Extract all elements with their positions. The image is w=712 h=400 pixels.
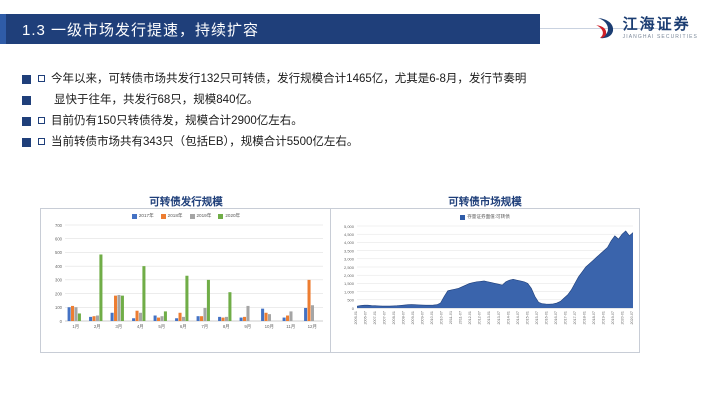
svg-text:2009-07: 2009-07 [421, 311, 425, 325]
svg-text:0: 0 [60, 319, 63, 324]
bullet-item-1-cont: 显快于往年，共发行68只，规模840亿。 [22, 91, 690, 110]
right-chart-title: 可转债市场规模 [330, 194, 640, 209]
svg-text:2013-07: 2013-07 [497, 311, 501, 325]
svg-text:2010-07: 2010-07 [440, 311, 444, 325]
left-chart-title-wrap: 可转债发行规模 [40, 194, 332, 209]
legend-item: 2017年 [132, 213, 154, 219]
svg-text:2006-01: 2006-01 [354, 311, 358, 325]
svg-text:100: 100 [55, 305, 63, 310]
svg-text:2006-07: 2006-07 [364, 311, 368, 325]
svg-text:3,500: 3,500 [344, 248, 355, 253]
svg-text:600: 600 [55, 237, 63, 242]
legend-label: 2019年 [197, 213, 212, 219]
svg-text:2016-07: 2016-07 [554, 311, 558, 325]
wave-logo-icon [595, 16, 617, 40]
svg-text:2020-01: 2020-01 [620, 311, 624, 325]
svg-text:3,000: 3,000 [344, 257, 355, 262]
left-chart-title: 可转债发行规模 [40, 194, 332, 209]
svg-text:4,500: 4,500 [344, 232, 355, 237]
legend-item: 2020年 [218, 213, 240, 219]
bullet-text-1b: 显快于往年，共发行68只，规模840亿。 [54, 91, 258, 110]
right-chart-title-wrap: 可转债市场规模 [330, 194, 640, 209]
svg-text:5月: 5月 [158, 324, 165, 330]
bullet-item-2: 目前仍有150只转债待发，规模合计2900亿左右。 [22, 112, 690, 131]
svg-text:2,500: 2,500 [344, 265, 355, 270]
legend-swatch-icon [190, 214, 195, 219]
svg-text:12月: 12月 [308, 324, 317, 330]
hollow-square-marker-icon [38, 138, 45, 145]
svg-text:2月: 2月 [94, 324, 101, 330]
svg-text:2011-07: 2011-07 [459, 311, 463, 324]
svg-text:0: 0 [352, 306, 355, 311]
svg-text:2008-07: 2008-07 [402, 311, 406, 325]
legend-swatch-icon [161, 214, 166, 219]
svg-text:2010-01: 2010-01 [430, 311, 434, 325]
bar-chart: 01002003004005006007001月2月3月4月5月6月7月8月9月… [41, 219, 331, 341]
right-chart-panel: 存量证券面值:可转债 05001,0001,5002,0002,5003,000… [330, 208, 640, 353]
hollow-square-marker-icon [38, 75, 45, 82]
svg-text:2,000: 2,000 [344, 273, 355, 278]
svg-text:8月: 8月 [223, 324, 230, 330]
svg-text:200: 200 [55, 291, 63, 296]
bullet-list: 今年以来，可转债市场共发行132只可转债，发行规模合计1465亿，尤其是6-8月… [22, 70, 690, 154]
logo-en-text: JIANGHAI SECURITIES [623, 35, 698, 40]
svg-text:11月: 11月 [286, 324, 295, 330]
svg-text:5,000: 5,000 [344, 224, 355, 229]
svg-text:2020-07: 2020-07 [630, 311, 634, 325]
svg-text:10月: 10月 [265, 324, 274, 330]
bullet-text-1a: 今年以来，可转债市场共发行132只可转债，发行规模合计1465亿，尤其是6-8月… [51, 70, 526, 89]
page-title: 1.3 一级市场发行提速，持续扩容 [22, 19, 259, 40]
legend-item: 存量证券面值:可转债 [460, 214, 510, 220]
svg-text:2018-01: 2018-01 [582, 311, 586, 325]
svg-text:4月: 4月 [137, 324, 144, 330]
svg-text:2013-01: 2013-01 [487, 311, 491, 325]
legend-swatch-icon [132, 214, 137, 219]
legend-swatch-icon [460, 215, 465, 220]
svg-text:1,000: 1,000 [344, 289, 355, 294]
svg-text:400: 400 [55, 264, 63, 269]
bullet-item-3: 当前转债市场共有343只（包括EB），规模合计5500亿左右。 [22, 133, 690, 152]
hollow-square-marker-icon [38, 117, 45, 124]
svg-text:1,500: 1,500 [344, 281, 355, 286]
legend-label: 2018年 [168, 213, 183, 219]
slide-header: 1.3 一级市场发行提速，持续扩容 江海证券 JIANGHAI SECURITI… [0, 0, 712, 56]
bullet-text-3: 当前转债市场共有343只（包括EB），规模合计5500亿左右。 [51, 133, 358, 152]
svg-text:2017-07: 2017-07 [573, 311, 577, 325]
svg-text:7月: 7月 [201, 324, 208, 330]
legend-label: 2020年 [225, 213, 240, 219]
square-marker-icon [22, 138, 31, 147]
svg-text:2016-01: 2016-01 [544, 311, 548, 325]
area-chart: 05001,0001,5002,0002,5003,0003,5004,0004… [331, 220, 639, 342]
svg-text:2007-01: 2007-01 [373, 311, 377, 325]
svg-text:2014-01: 2014-01 [506, 311, 510, 325]
svg-text:2008-01: 2008-01 [392, 311, 396, 325]
svg-text:2012-07: 2012-07 [478, 311, 482, 325]
square-marker-icon [22, 117, 31, 126]
svg-text:9月: 9月 [244, 324, 251, 330]
svg-text:2014-07: 2014-07 [516, 311, 520, 325]
svg-text:2018-07: 2018-07 [592, 311, 596, 325]
header-bar-accent [0, 14, 6, 44]
svg-text:300: 300 [55, 278, 63, 283]
svg-text:2017-01: 2017-01 [563, 311, 567, 325]
svg-text:2009-01: 2009-01 [411, 311, 415, 325]
legend-label: 2017年 [139, 213, 154, 219]
brand-logo: 江海证券 JIANGHAI SECURITIES [595, 12, 698, 44]
square-marker-icon [22, 96, 31, 105]
left-chart-panel: 2017年2018年2019年2020年 0100200300400500600… [40, 208, 332, 353]
legend-label: 存量证券面值:可转债 [467, 214, 510, 220]
svg-text:1月: 1月 [72, 324, 79, 330]
svg-text:2011-01: 2011-01 [449, 311, 453, 324]
svg-text:500: 500 [55, 250, 63, 255]
bullet-item-1: 今年以来，可转债市场共发行132只可转债，发行规模合计1465亿，尤其是6-8月… [22, 70, 690, 89]
svg-text:500: 500 [347, 298, 354, 303]
svg-text:2015-01: 2015-01 [525, 311, 529, 325]
svg-text:2012-01: 2012-01 [468, 311, 472, 325]
svg-text:4,000: 4,000 [344, 240, 355, 245]
legend-item: 2019年 [190, 213, 212, 219]
svg-text:2007-07: 2007-07 [383, 311, 387, 325]
square-marker-icon [22, 75, 31, 84]
svg-text:3月: 3月 [115, 324, 122, 330]
svg-text:6月: 6月 [180, 324, 187, 330]
legend-swatch-icon [218, 214, 223, 219]
svg-text:2015-07: 2015-07 [535, 311, 539, 325]
svg-text:2019-01: 2019-01 [601, 311, 605, 325]
logo-cn-text: 江海证券 [623, 17, 698, 32]
legend-item: 2018年 [161, 213, 183, 219]
bullet-text-2: 目前仍有150只转债待发，规模合计2900亿左右。 [51, 112, 303, 131]
svg-text:700: 700 [55, 223, 63, 228]
svg-text:2019-07: 2019-07 [611, 311, 615, 325]
